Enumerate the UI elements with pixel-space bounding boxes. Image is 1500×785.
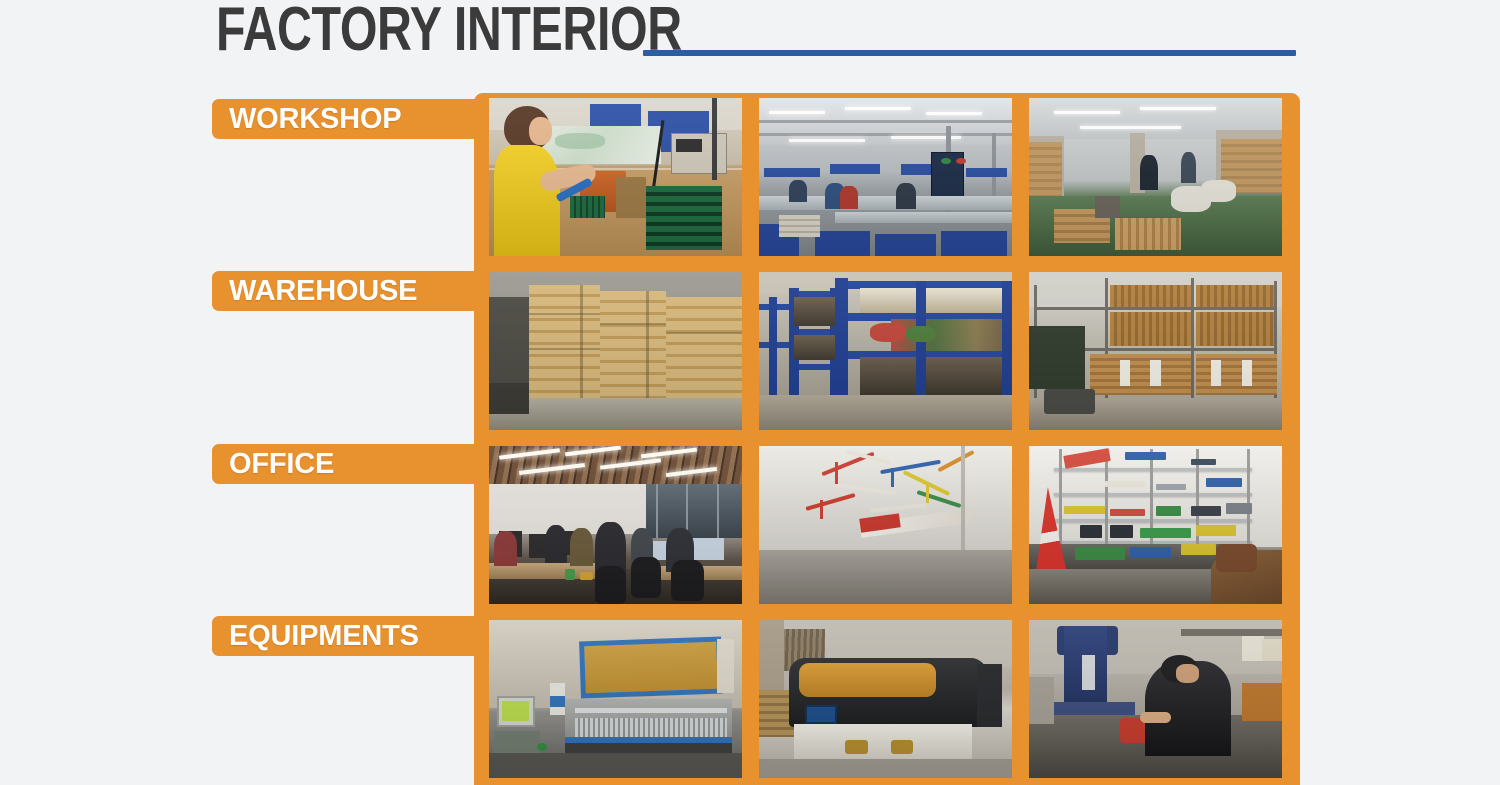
photo-workshop-3 bbox=[1029, 98, 1282, 256]
page-title: FACTORY INTERIOR bbox=[216, 0, 682, 62]
section-label-text: WORKSHOP bbox=[229, 104, 401, 134]
photo-workshop-1 bbox=[489, 98, 742, 256]
photo-office-1 bbox=[489, 446, 742, 604]
title-underline-rule bbox=[643, 50, 1296, 56]
photo-warehouse-3 bbox=[1029, 272, 1282, 430]
section-label-equipments: EQUIPMENTS bbox=[212, 616, 480, 656]
photo-equipments-1 bbox=[489, 620, 742, 778]
photo-grid bbox=[489, 98, 1285, 785]
section-label-workshop: WORKSHOP bbox=[212, 99, 480, 139]
photo-office-2 bbox=[759, 446, 1012, 604]
section-label-text: WAREHOUSE bbox=[229, 276, 417, 306]
page-header: FACTORY INTERIOR bbox=[0, 0, 1500, 93]
photo-warehouse-1 bbox=[489, 272, 742, 430]
photo-office-3 bbox=[1029, 446, 1282, 604]
section-label-office: OFFICE bbox=[212, 444, 480, 484]
photo-equipments-2 bbox=[759, 620, 1012, 778]
photo-warehouse-2 bbox=[759, 272, 1012, 430]
photo-equipments-3 bbox=[1029, 620, 1282, 778]
section-label-text: OFFICE bbox=[229, 449, 334, 479]
section-label-text: EQUIPMENTS bbox=[229, 621, 419, 651]
section-label-warehouse: WAREHOUSE bbox=[212, 271, 480, 311]
photo-workshop-2 bbox=[759, 98, 1012, 256]
